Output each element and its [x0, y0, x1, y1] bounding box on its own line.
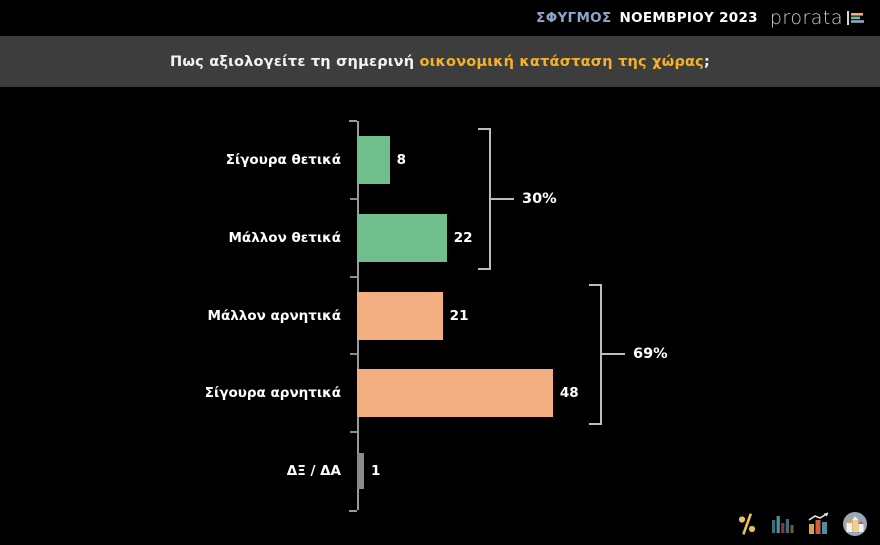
percent-icon [734, 511, 760, 537]
bracket-arm-bot [589, 423, 602, 425]
bracket-arm-bot [478, 268, 491, 270]
trend-bar-chart-icon [806, 511, 832, 537]
category-label: Μάλλον θετικά [27, 214, 357, 262]
category-label: Σίγουρα αρνητικά [27, 369, 357, 417]
bracket-arm-top [589, 284, 602, 286]
group-bracket-negative-total: 69% [600, 284, 720, 426]
bar[interactable] [357, 136, 390, 184]
bracket-arm-top [478, 128, 491, 130]
bracket-stem [491, 198, 514, 200]
survey-period-label: ΝΟΕΜΒΡΙΟΥ 2023 [619, 10, 757, 26]
bar-value-label: 48 [553, 369, 579, 417]
question-text: Πως αξιολογείτε τη σημερινή οικονομική κ… [170, 54, 710, 70]
bar[interactable] [357, 369, 553, 417]
category-label: ΔΞ / ΔΑ [27, 453, 357, 489]
brand-line: ΣΦΥΓΜΟΣ ΝΟΕΜΒΡΙΟΥ 2023 prorata [536, 7, 866, 29]
bar[interactable] [357, 453, 364, 489]
group-bracket-positive-total: 30% [489, 128, 609, 270]
bar-chart-logo-icon [846, 8, 866, 28]
question-band: Πως αξιολογείτε τη σημερινή οικονομική κ… [0, 36, 880, 87]
question-text-highlight: οικονομική κατάσταση της χώρας [420, 54, 704, 70]
bar-row: Μάλλον θετικά22 [0, 214, 880, 262]
question-text-plain: Πως αξιολογείτε τη σημερινή [170, 54, 420, 70]
city-circle-icon [842, 511, 868, 537]
bar-value-label: 8 [390, 136, 406, 184]
top-header-bar: ΣΦΥΓΜΟΣ ΝΟΕΜΒΡΙΟΥ 2023 prorata [0, 0, 880, 36]
axis-cap-top [349, 120, 357, 122]
axis-tick [350, 431, 357, 433]
bracket-stem [602, 353, 625, 355]
bar-row: Σίγουρα αρνητικά48 [0, 369, 880, 417]
chart-area: Σίγουρα θετικά8Μάλλον θετικά22Μάλλον αρν… [0, 87, 880, 545]
bar-row: Μάλλον αρνητικά21 [0, 292, 880, 340]
prorata-logo: prorata [770, 7, 866, 29]
axis-tick [350, 353, 357, 355]
bracket-total-label: 30% [522, 191, 557, 207]
dark-bar-chart-icon [770, 511, 796, 537]
bar-row: ΔΞ / ΔΑ1 [0, 453, 880, 489]
bar-plot: Σίγουρα θετικά8Μάλλον θετικά22Μάλλον αρν… [0, 87, 880, 545]
survey-label: ΣΦΥΓΜΟΣ [536, 10, 611, 26]
bar[interactable] [357, 292, 443, 340]
bar-value-label: 22 [447, 214, 473, 262]
footer-icon-row [734, 511, 868, 537]
poll-chart-slide: ΣΦΥΓΜΟΣ ΝΟΕΜΒΡΙΟΥ 2023 prorata Πως αξιολ… [0, 0, 880, 545]
bracket-total-label: 69% [633, 346, 668, 362]
axis-tick [350, 198, 357, 200]
axis-cap-bottom [349, 510, 357, 512]
bar[interactable] [357, 214, 447, 262]
question-text-tail: ; [704, 54, 710, 70]
category-label: Σίγουρα θετικά [27, 136, 357, 184]
bar-value-label: 1 [364, 453, 380, 489]
bar-value-label: 21 [443, 292, 469, 340]
bar-row: Σίγουρα θετικά8 [0, 136, 880, 184]
axis-tick [350, 276, 357, 278]
category-label: Μάλλον αρνητικά [27, 292, 357, 340]
brand-name: prorata [770, 7, 843, 29]
